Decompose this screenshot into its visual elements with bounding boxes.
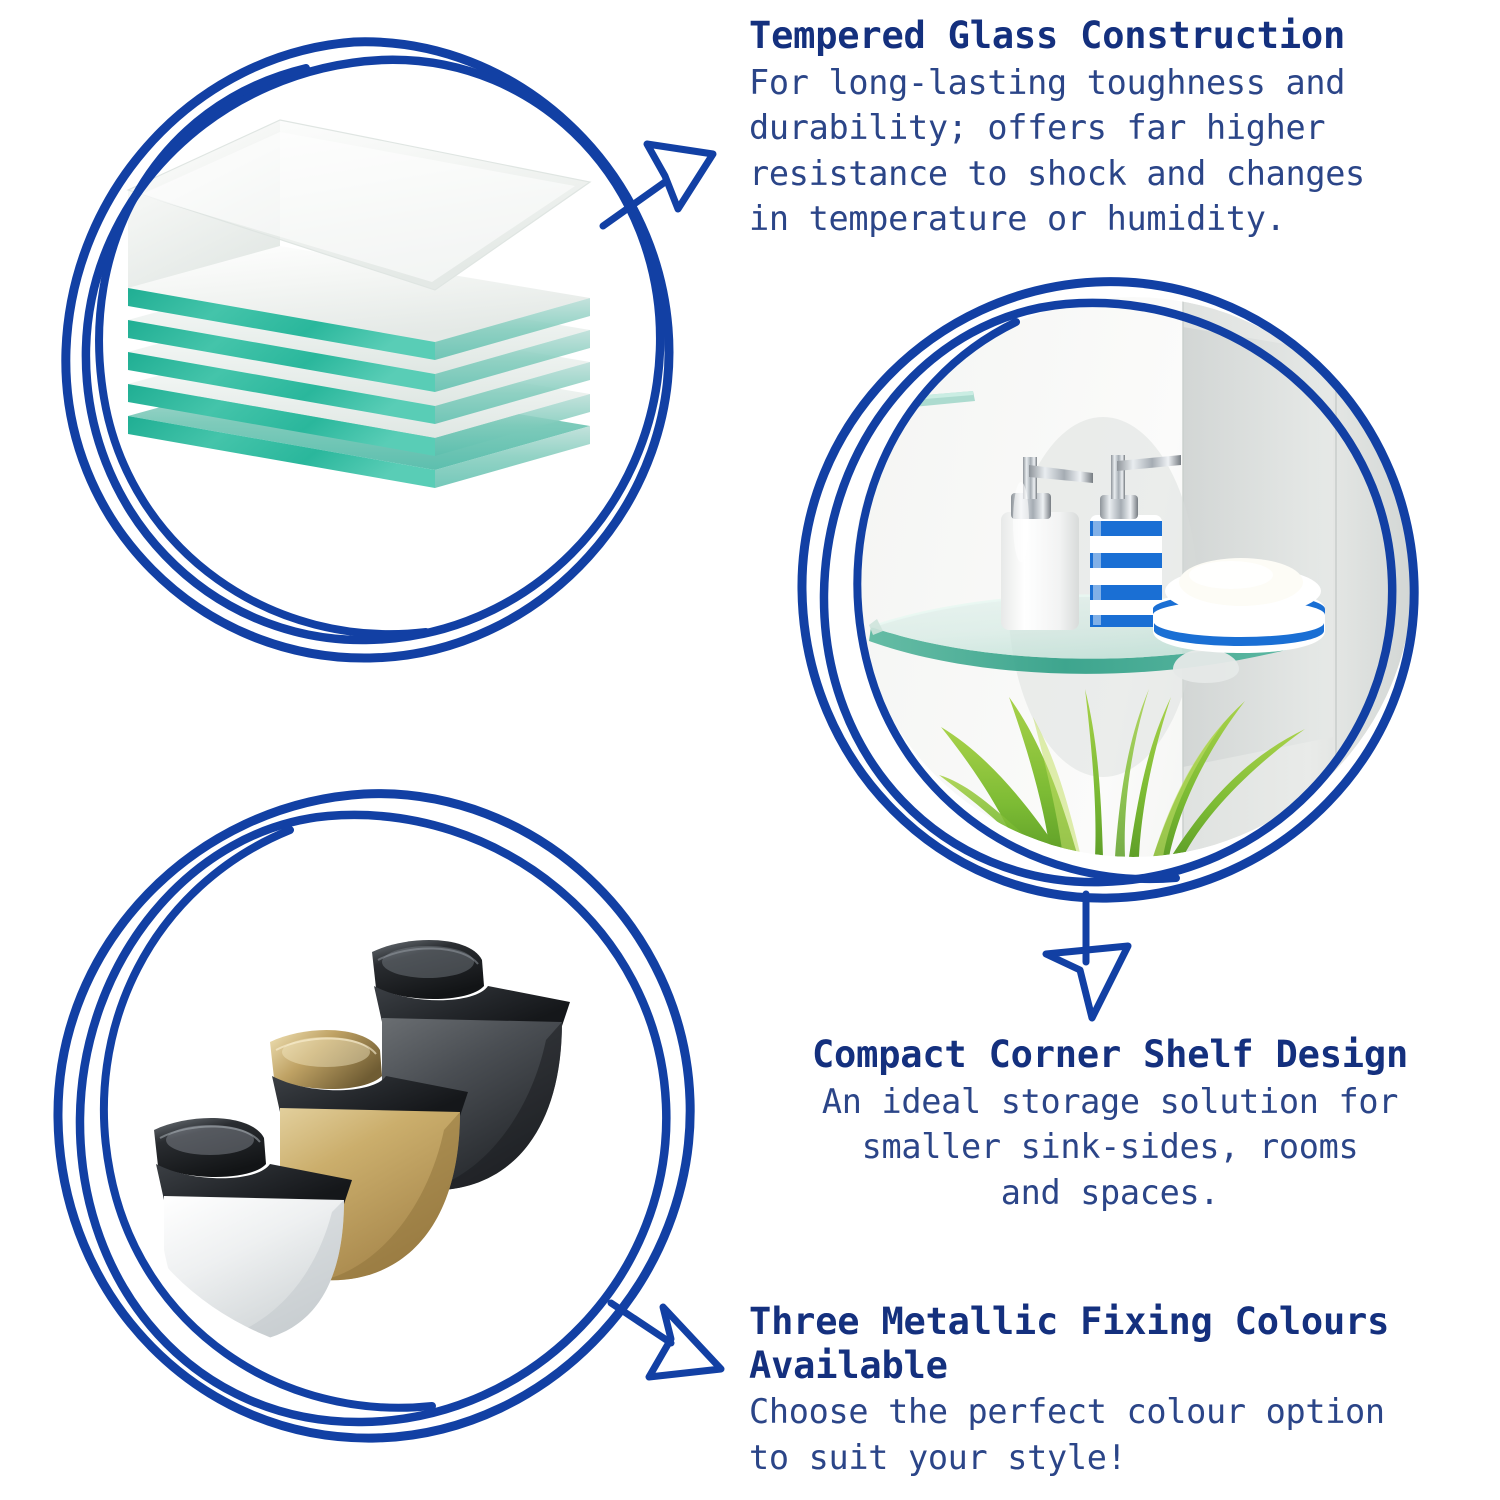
arrow-shelf-to-text: [1030, 890, 1150, 1025]
corner-shelf-photo: [853, 297, 1413, 857]
feature-title-fixing-colours: Three Metallic Fixing Colours Available: [749, 1300, 1479, 1387]
glass-stack-photo: [80, 60, 650, 630]
feature-title-tempered-glass: Tempered Glass Construction: [749, 14, 1469, 58]
feature-body-corner-shelf: An ideal storage solution for smaller si…: [755, 1079, 1465, 1216]
bracket-colours-illustration: [110, 890, 670, 1360]
feature-body-tempered-glass: For long-lasting toughness and durabilit…: [749, 60, 1469, 242]
corner-shelf-illustration: [853, 297, 1413, 857]
feature-title-corner-shelf: Compact Corner Shelf Design: [755, 1033, 1465, 1077]
feature-block-fixing-colours: Three Metallic Fixing Colours Available …: [749, 1300, 1479, 1480]
arrow-brackets-to-text: [605, 1285, 740, 1400]
glass-stack-illustration: [80, 60, 650, 630]
feature-block-tempered-glass: Tempered Glass Construction For long-las…: [749, 14, 1469, 242]
bracket-colours-photo: [110, 890, 670, 1360]
feature-block-corner-shelf: Compact Corner Shelf Design An ideal sto…: [755, 1033, 1465, 1215]
feature-body-fixing-colours: Choose the perfect colour option to suit…: [749, 1389, 1479, 1480]
infographic-canvas: Tempered Glass Construction For long-las…: [0, 0, 1500, 1500]
arrow-glass-to-text: [595, 130, 725, 240]
